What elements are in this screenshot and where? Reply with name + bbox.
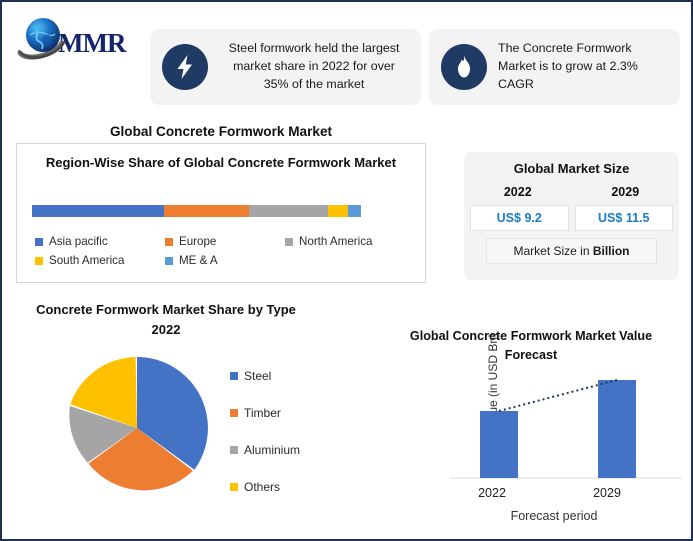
legend-swatch-icon (230, 483, 238, 491)
market-size-value-row: US$ 9.2 US$ 11.5 (464, 205, 679, 231)
legend-label: South America (49, 254, 124, 267)
market-value-2022: US$ 9.2 (470, 205, 569, 231)
callout-1-text: Steel formwork held the largest market s… (219, 40, 409, 94)
legend-label: Steel (244, 369, 271, 383)
globe-icon (16, 13, 68, 65)
infographic-page: MMR Steel formwork held the largest mark… (0, 0, 693, 541)
pie-legend-item-aluminium: Aluminium (230, 431, 300, 468)
region-legend: Asia pacific Europe North America South … (35, 232, 413, 270)
market-year-2022: 2022 (464, 185, 572, 199)
market-size-title: Global Market Size (464, 161, 679, 176)
bar-2029 (598, 380, 636, 478)
legend-swatch-icon (35, 238, 43, 246)
legend-swatch-icon (285, 238, 293, 246)
pie-chart-title: Concrete Formwork Market Share by Type 2… (30, 300, 302, 339)
legend-swatch-icon (35, 257, 43, 265)
market-year-2029: 2029 (572, 185, 680, 199)
forecast-x-axis-label: Forecast period (454, 509, 654, 523)
forecast-xtick-2029: 2029 (572, 486, 642, 500)
page-title: Global Concrete Formwork Market (16, 124, 426, 139)
region-segment-asia-pacific (32, 205, 164, 217)
callout-2-text: The Concrete Formwork Market is to grow … (498, 40, 668, 94)
legend-label: Others (244, 480, 280, 494)
forecast-xtick-2022: 2022 (457, 486, 527, 500)
callout-cagr: The Concrete Formwork Market is to grow … (429, 29, 680, 105)
brand-logo: MMR (16, 10, 148, 68)
legend-label: North America (299, 235, 372, 248)
pie-legend-item-steel: Steel (230, 357, 300, 394)
legend-item-me-a: ME & A (165, 251, 285, 270)
legend-swatch-icon (230, 372, 238, 380)
forecast-bar-chart (450, 368, 682, 484)
legend-swatch-icon (165, 257, 173, 265)
bar-2022 (480, 411, 518, 478)
pie-legend-item-others: Others (230, 468, 300, 505)
region-segment-me-a (348, 205, 361, 217)
legend-swatch-icon (230, 409, 238, 417)
lightning-bolt-icon (162, 44, 208, 90)
legend-item-north-america: North America (285, 232, 413, 251)
pie-chart-legend: Steel Timber Aluminium Others (230, 357, 300, 505)
flame-icon (441, 44, 487, 90)
region-segment-south-america (328, 205, 348, 217)
region-segment-europe (164, 205, 250, 217)
legend-item-asia-pacific: Asia pacific (35, 232, 165, 251)
legend-label: Timber (244, 406, 281, 420)
brand-name: MMR (58, 28, 125, 59)
legend-label: ME & A (179, 254, 218, 267)
legend-label: Asia pacific (49, 235, 108, 248)
legend-swatch-icon (230, 446, 238, 454)
region-segment-north-america (249, 205, 328, 217)
forecast-chart-title: Global Concrete Formwork Market Value Fo… (400, 327, 662, 365)
region-chart-title: Region-Wise Share of Global Concrete For… (33, 153, 409, 173)
legend-item-south-america: South America (35, 251, 165, 270)
market-size-year-row: 2022 2029 (464, 185, 679, 199)
legend-swatch-icon (165, 238, 173, 246)
region-stacked-bar (32, 205, 361, 217)
market-size-unit-note: Market Size in Billion (486, 238, 657, 264)
region-share-panel: Region-Wise Share of Global Concrete For… (16, 143, 426, 283)
callout-steel-share: Steel formwork held the largest market s… (150, 29, 421, 105)
legend-item-europe: Europe (165, 232, 285, 251)
market-value-2029: US$ 11.5 (575, 205, 674, 231)
market-unit-prefix: Market Size in (513, 244, 592, 258)
global-market-size-panel: Global Market Size 2022 2029 US$ 9.2 US$… (464, 152, 679, 280)
legend-label: Europe (179, 235, 216, 248)
market-unit-value: Billion (593, 244, 630, 258)
pie-legend-item-timber: Timber (230, 394, 300, 431)
legend-label: Aluminium (244, 443, 300, 457)
market-share-pie-chart (59, 350, 215, 506)
